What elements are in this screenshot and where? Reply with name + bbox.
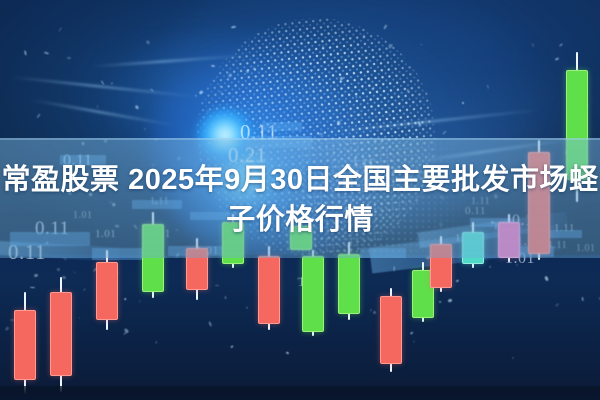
- particle: [230, 25, 236, 28]
- particle: [318, 133, 323, 135]
- news-banner: 0.110.111.011.011.010.110.110.210.211.11…: [0, 0, 600, 400]
- title-line-1: 常盈股票 2025年9月30日全国主要批发市场蛏: [0, 160, 600, 200]
- candle-body: [14, 310, 36, 380]
- band-top-sheen: [0, 138, 600, 140]
- particle: [96, 105, 98, 108]
- candle-body: [50, 292, 72, 376]
- candlestick: [380, 288, 402, 372]
- candle-body: [96, 262, 118, 320]
- particle: [489, 266, 491, 268]
- candlestick: [258, 246, 280, 330]
- candle-body: [338, 254, 360, 314]
- bottom-strip: [0, 386, 600, 400]
- particle: [581, 297, 583, 301]
- candlestick: [50, 277, 72, 392]
- candle-body: [258, 256, 280, 324]
- particle: [369, 308, 372, 311]
- particle: [24, 51, 27, 56]
- candle-body: [380, 296, 402, 364]
- price-chip: [262, 122, 302, 131]
- candle-body: [302, 256, 324, 332]
- candlestick: [302, 250, 324, 336]
- title-line-2: 子价格行情: [0, 200, 600, 240]
- candlestick: [14, 292, 36, 400]
- banner-title: 常盈股票 2025年9月30日全国主要批发市场蛏 子价格行情: [0, 160, 600, 240]
- candlestick: [96, 250, 118, 330]
